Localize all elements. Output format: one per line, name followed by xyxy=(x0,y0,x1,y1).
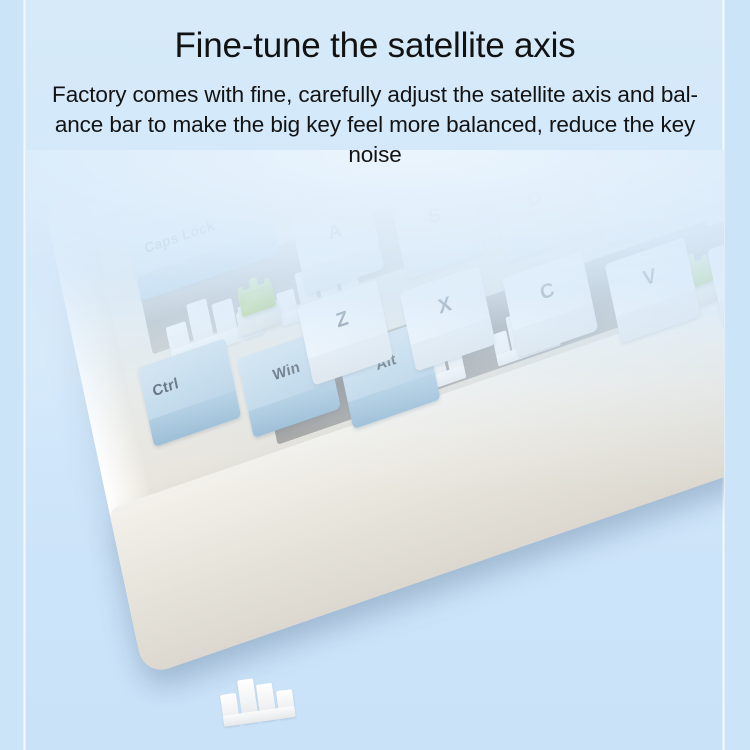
subtitle-line: ance bar to make the big key feel more b… xyxy=(26,110,724,140)
subtitle-line: Factory comes with fine, carefully adjus… xyxy=(26,80,724,110)
page-subtitle: Factory comes with fine, carefully adjus… xyxy=(26,66,724,170)
product-detail-image: Caps Lock Ctrl Win Alt Tab xyxy=(0,0,750,750)
keyboard-photo: Caps Lock Ctrl Win Alt Tab xyxy=(26,150,724,750)
fade-highlight xyxy=(26,150,724,360)
subtitle-line: noise xyxy=(26,140,724,170)
copy-block: Fine-tune the satellite axis Factory com… xyxy=(26,0,724,170)
page-title: Fine-tune the satellite axis xyxy=(26,0,724,66)
